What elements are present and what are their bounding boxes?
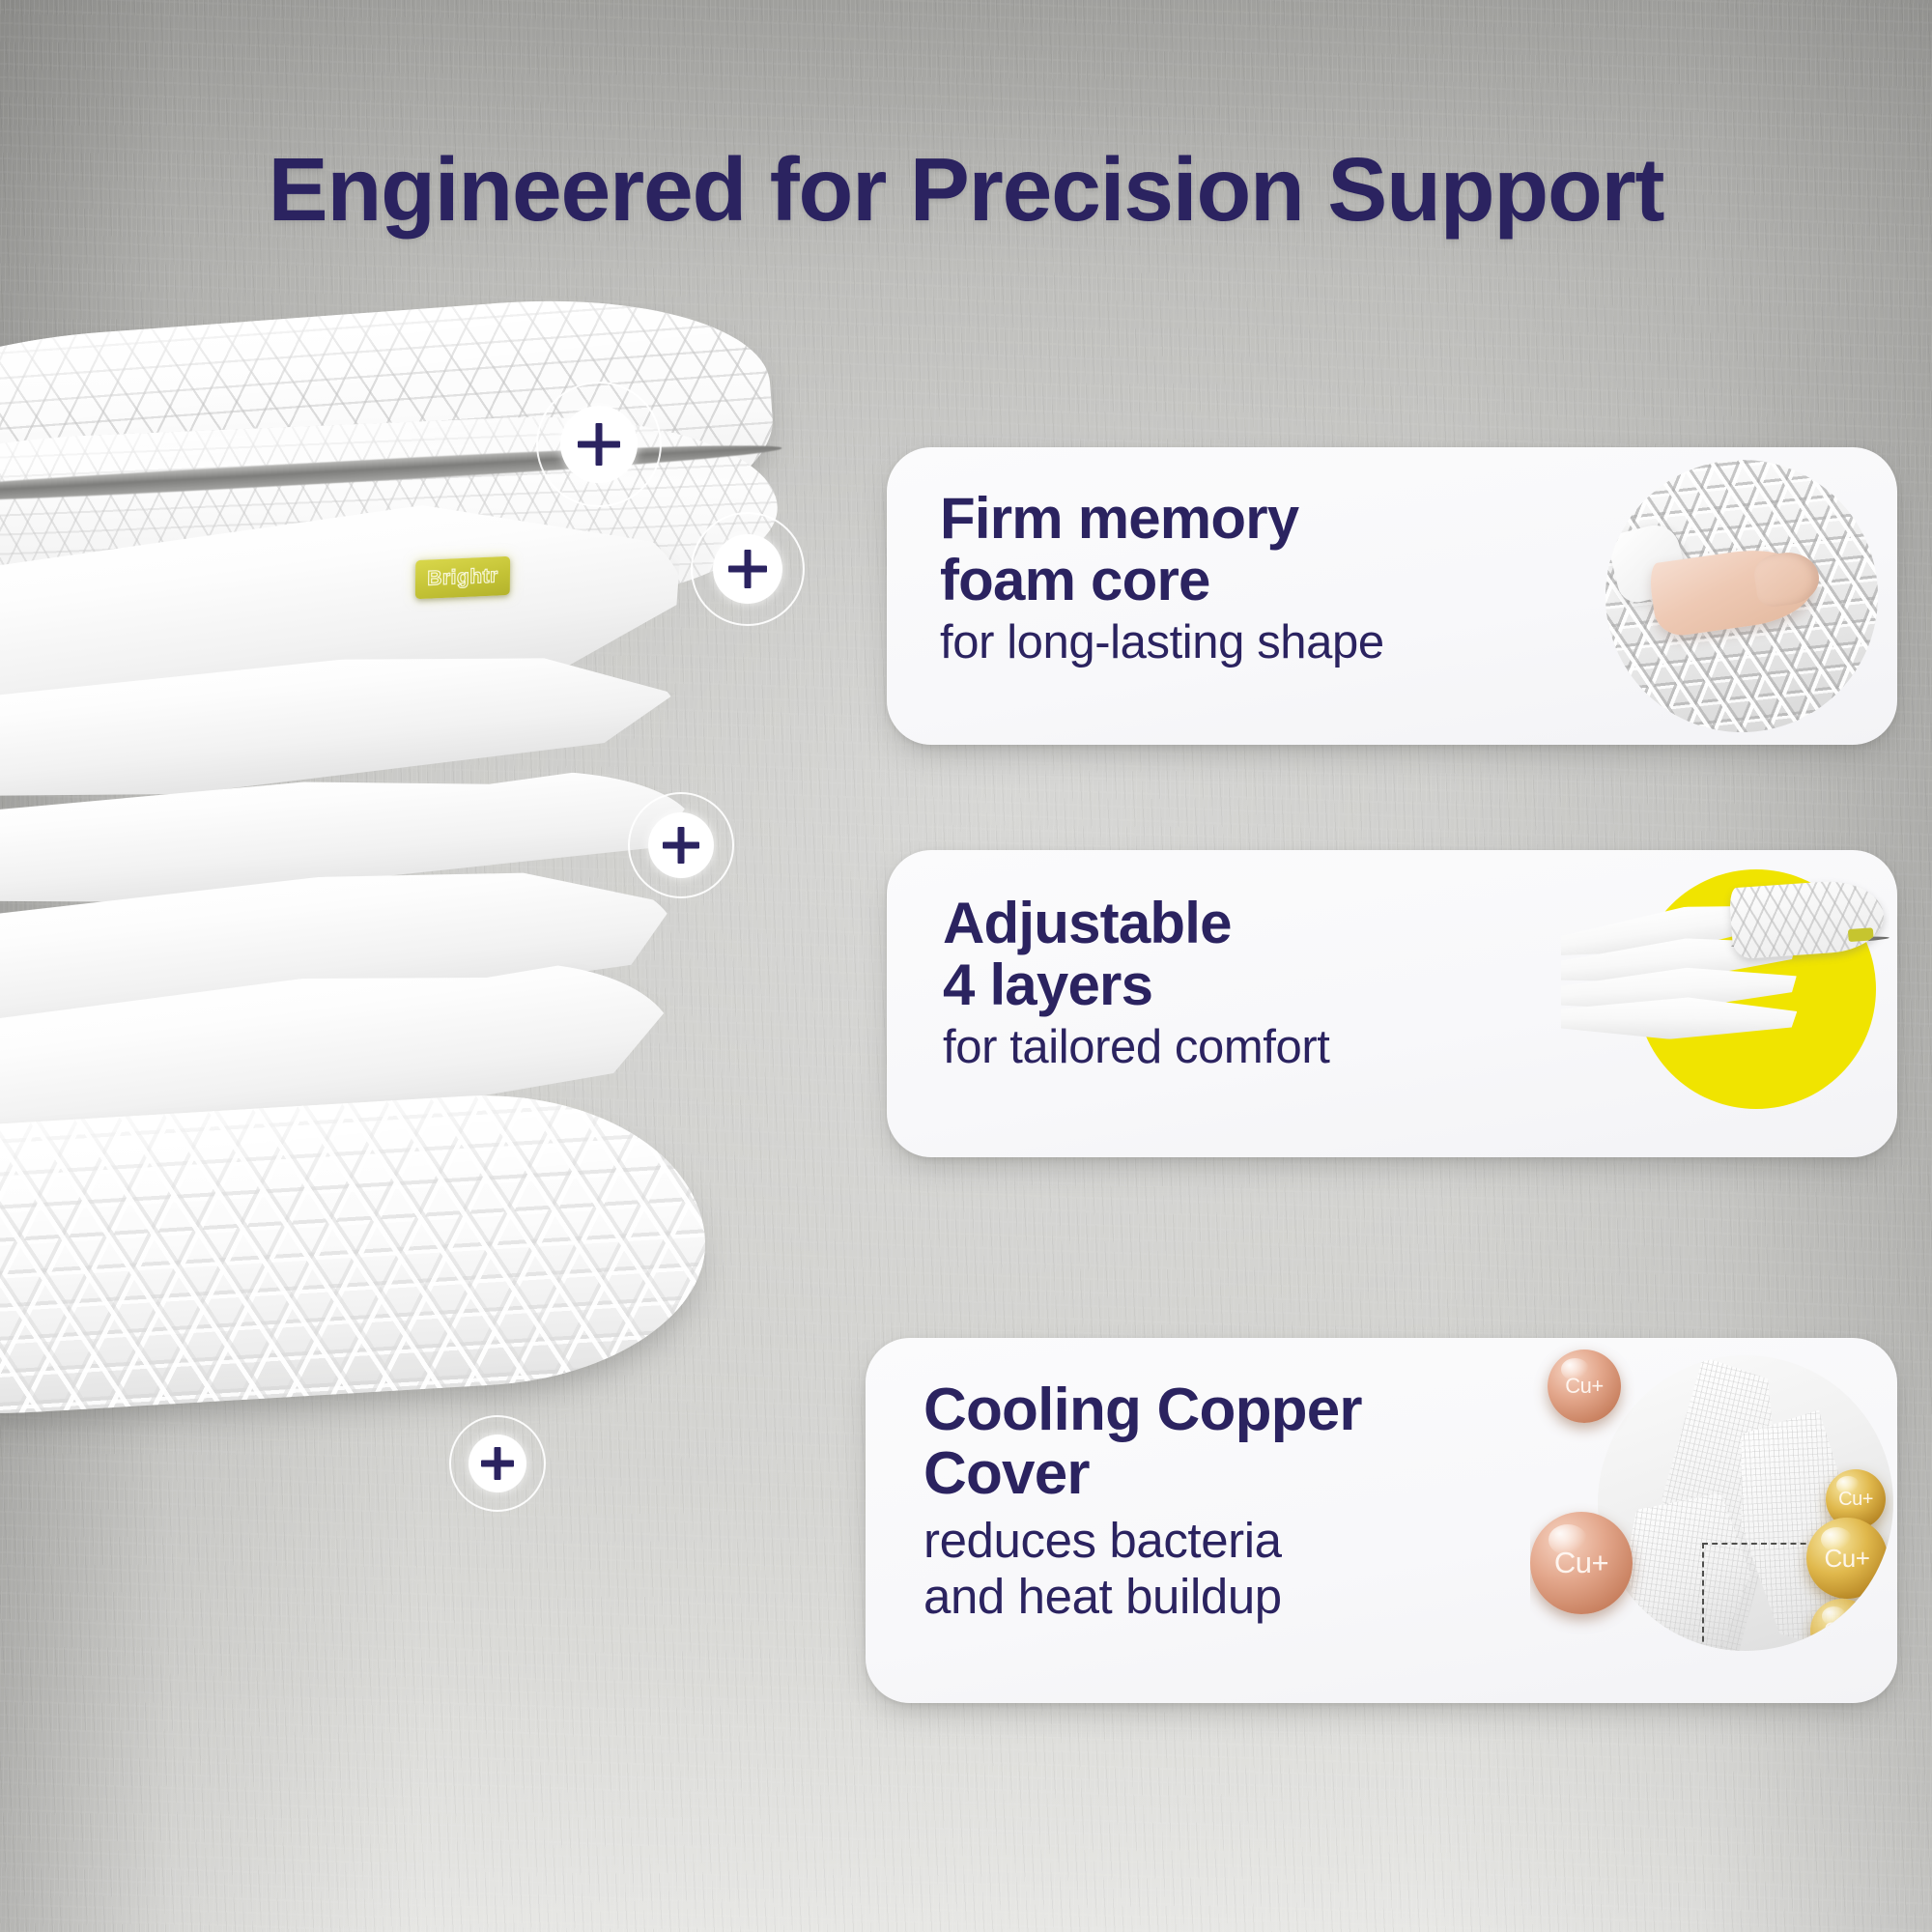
card-subtitle: for long-lasting shape: [940, 616, 1384, 669]
copper-ion-fabric-thumbnail: Cu+ Cu+ Cu+ Cu+ Cu+: [1530, 1338, 1893, 1703]
layer-marker-3[interactable]: [628, 792, 734, 898]
card-subtitle: reduces bacteria and heat buildup: [923, 1513, 1362, 1623]
card-text-block: Firm memory foam core for long-lasting s…: [940, 488, 1384, 669]
plus-icon: [469, 1435, 526, 1492]
plus-icon: [713, 534, 782, 604]
plus-icon: [560, 406, 638, 483]
page-title: Engineered for Precision Support: [0, 145, 1932, 235]
feature-card-firm-memory-foam-core[interactable]: Firm memory foam core for long-lasting s…: [887, 447, 1897, 745]
card-subtitle: for tailored comfort: [943, 1021, 1330, 1074]
patterned-cover-end: [1729, 878, 1887, 960]
pillow-layer-stack: [0, 319, 908, 1575]
copper-ion-badge: Cu+: [1810, 1599, 1874, 1651]
mini-brand-tag: [1848, 927, 1874, 942]
stacked-foam-layers-thumbnail: [1561, 850, 1889, 1157]
layer-marker-2[interactable]: [691, 512, 805, 626]
layer-marker-1[interactable]: [536, 382, 662, 507]
layer-marker-4[interactable]: [449, 1415, 546, 1512]
copper-ion-badge: Cu+: [1548, 1350, 1621, 1423]
thumbnail-circle-mask: [1605, 460, 1878, 732]
cover-lattice-texture: [1729, 878, 1887, 960]
card-text-block: Adjustable 4 layers for tailored comfort: [943, 893, 1330, 1074]
card-title: Cooling Copper Cover: [923, 1378, 1362, 1505]
feature-card-cooling-copper-cover[interactable]: Cooling Copper Cover reduces bacteria an…: [866, 1338, 1897, 1703]
card-title: Firm memory foam core: [940, 488, 1384, 611]
thumbnail-circle-mask: Cu+ Cu+ Cu+: [1598, 1355, 1893, 1651]
memory-foam-core: [0, 1083, 713, 1430]
card-text-block: Cooling Copper Cover reduces bacteria an…: [923, 1378, 1362, 1624]
copper-ion-badge: Cu+: [1806, 1518, 1888, 1599]
feature-card-adjustable-4-layers[interactable]: Adjustable 4 layers for tailored comfort: [887, 850, 1897, 1157]
plus-icon: [648, 812, 714, 878]
brand-tag-label: Brightr: [427, 564, 498, 590]
hand-pressing-foam-thumbnail: [1569, 447, 1888, 745]
copper-ion-badge: Cu+: [1530, 1512, 1633, 1614]
card-title: Adjustable 4 layers: [943, 893, 1330, 1015]
brightr-brand-tag: Brightr: [415, 556, 510, 599]
core-sheen: [0, 1083, 713, 1430]
